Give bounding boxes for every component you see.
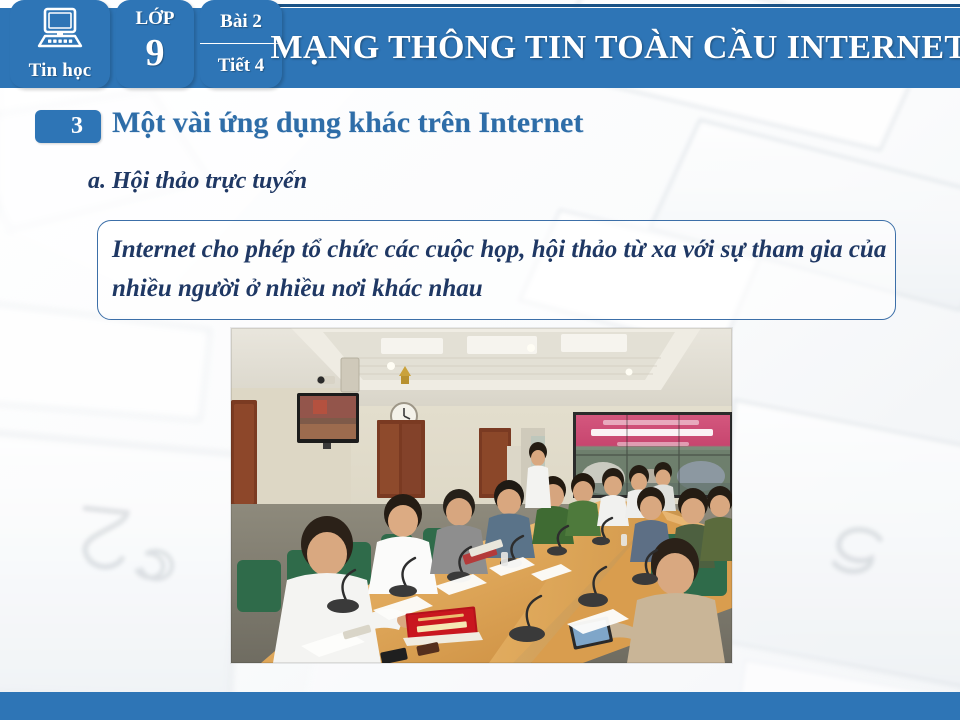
- grade-number: 9: [116, 31, 194, 75]
- grade-tab[interactable]: LỚP 9: [116, 0, 194, 88]
- subject-label: Tin học: [10, 60, 110, 82]
- slide-root: Tin học LỚP 9 Bài 2 Tiết 4 MẠNG THÔNG TI…: [0, 0, 960, 720]
- page-title: MẠNG THÔNG TIN TOÀN CẦU INTERNET: [283, 16, 955, 80]
- section-subtitle: a. Hội thảo trực tuyến: [88, 168, 307, 195]
- footer-bar: [0, 692, 960, 720]
- section-title: Một vài ứng dụng khác trên Internet: [112, 106, 583, 140]
- section-number-badge: 3: [35, 110, 101, 143]
- subject-tab[interactable]: Tin học: [10, 0, 110, 88]
- computer-icon: [35, 6, 85, 59]
- content-callout-box: Internet cho phép tổ chức các cuộc họp, …: [97, 220, 896, 320]
- content-callout-text: Internet cho phép tổ chức các cuộc họp, …: [112, 230, 887, 308]
- grade-word: LỚP: [116, 7, 194, 31]
- conference-room-photo: [231, 328, 732, 663]
- header-top-rule: [275, 4, 960, 7]
